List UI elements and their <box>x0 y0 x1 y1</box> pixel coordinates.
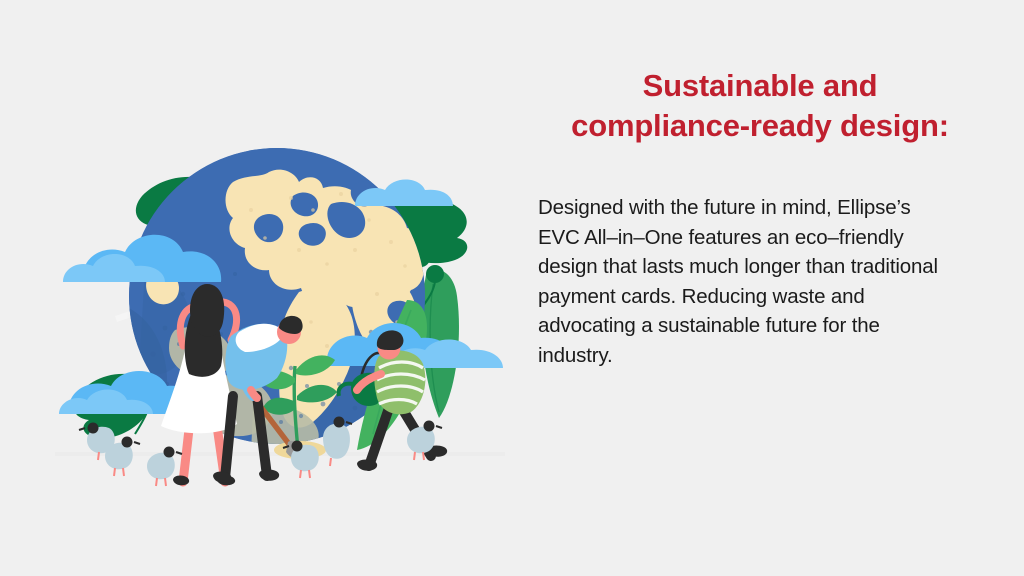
man-dig-hand <box>251 390 257 398</box>
page-title: Sustainable and compliance-ready design: <box>510 66 1010 146</box>
body-line-5: advocating a sustainable future for the <box>538 311 1010 341</box>
leaf-dot-f <box>426 265 444 283</box>
slide: Sustainable and compliance-ready design:… <box>0 0 1024 576</box>
woman-hair <box>190 284 224 337</box>
headline-line-1: Sustainable and <box>510 66 1010 106</box>
body-line-3: design that lasts much longer than tradi… <box>538 252 1010 282</box>
body-line-2: EVC All–in–One features an eco–friendly <box>538 223 1010 253</box>
body-line-1: Designed with the future in mind, Ellips… <box>538 193 1010 223</box>
body-paragraph: Designed with the future in mind, Ellips… <box>510 146 1010 370</box>
man-water-shirt <box>374 350 425 414</box>
headline-line-2: compliance-ready design: <box>510 106 1010 146</box>
body-line-4: payment cards. Reducing waste and <box>538 282 1010 312</box>
earth-day-planting-illustration <box>55 78 505 503</box>
text-column: Sustainable and compliance-ready design:… <box>510 66 1010 370</box>
body-line-6: industry. <box>538 341 1010 371</box>
